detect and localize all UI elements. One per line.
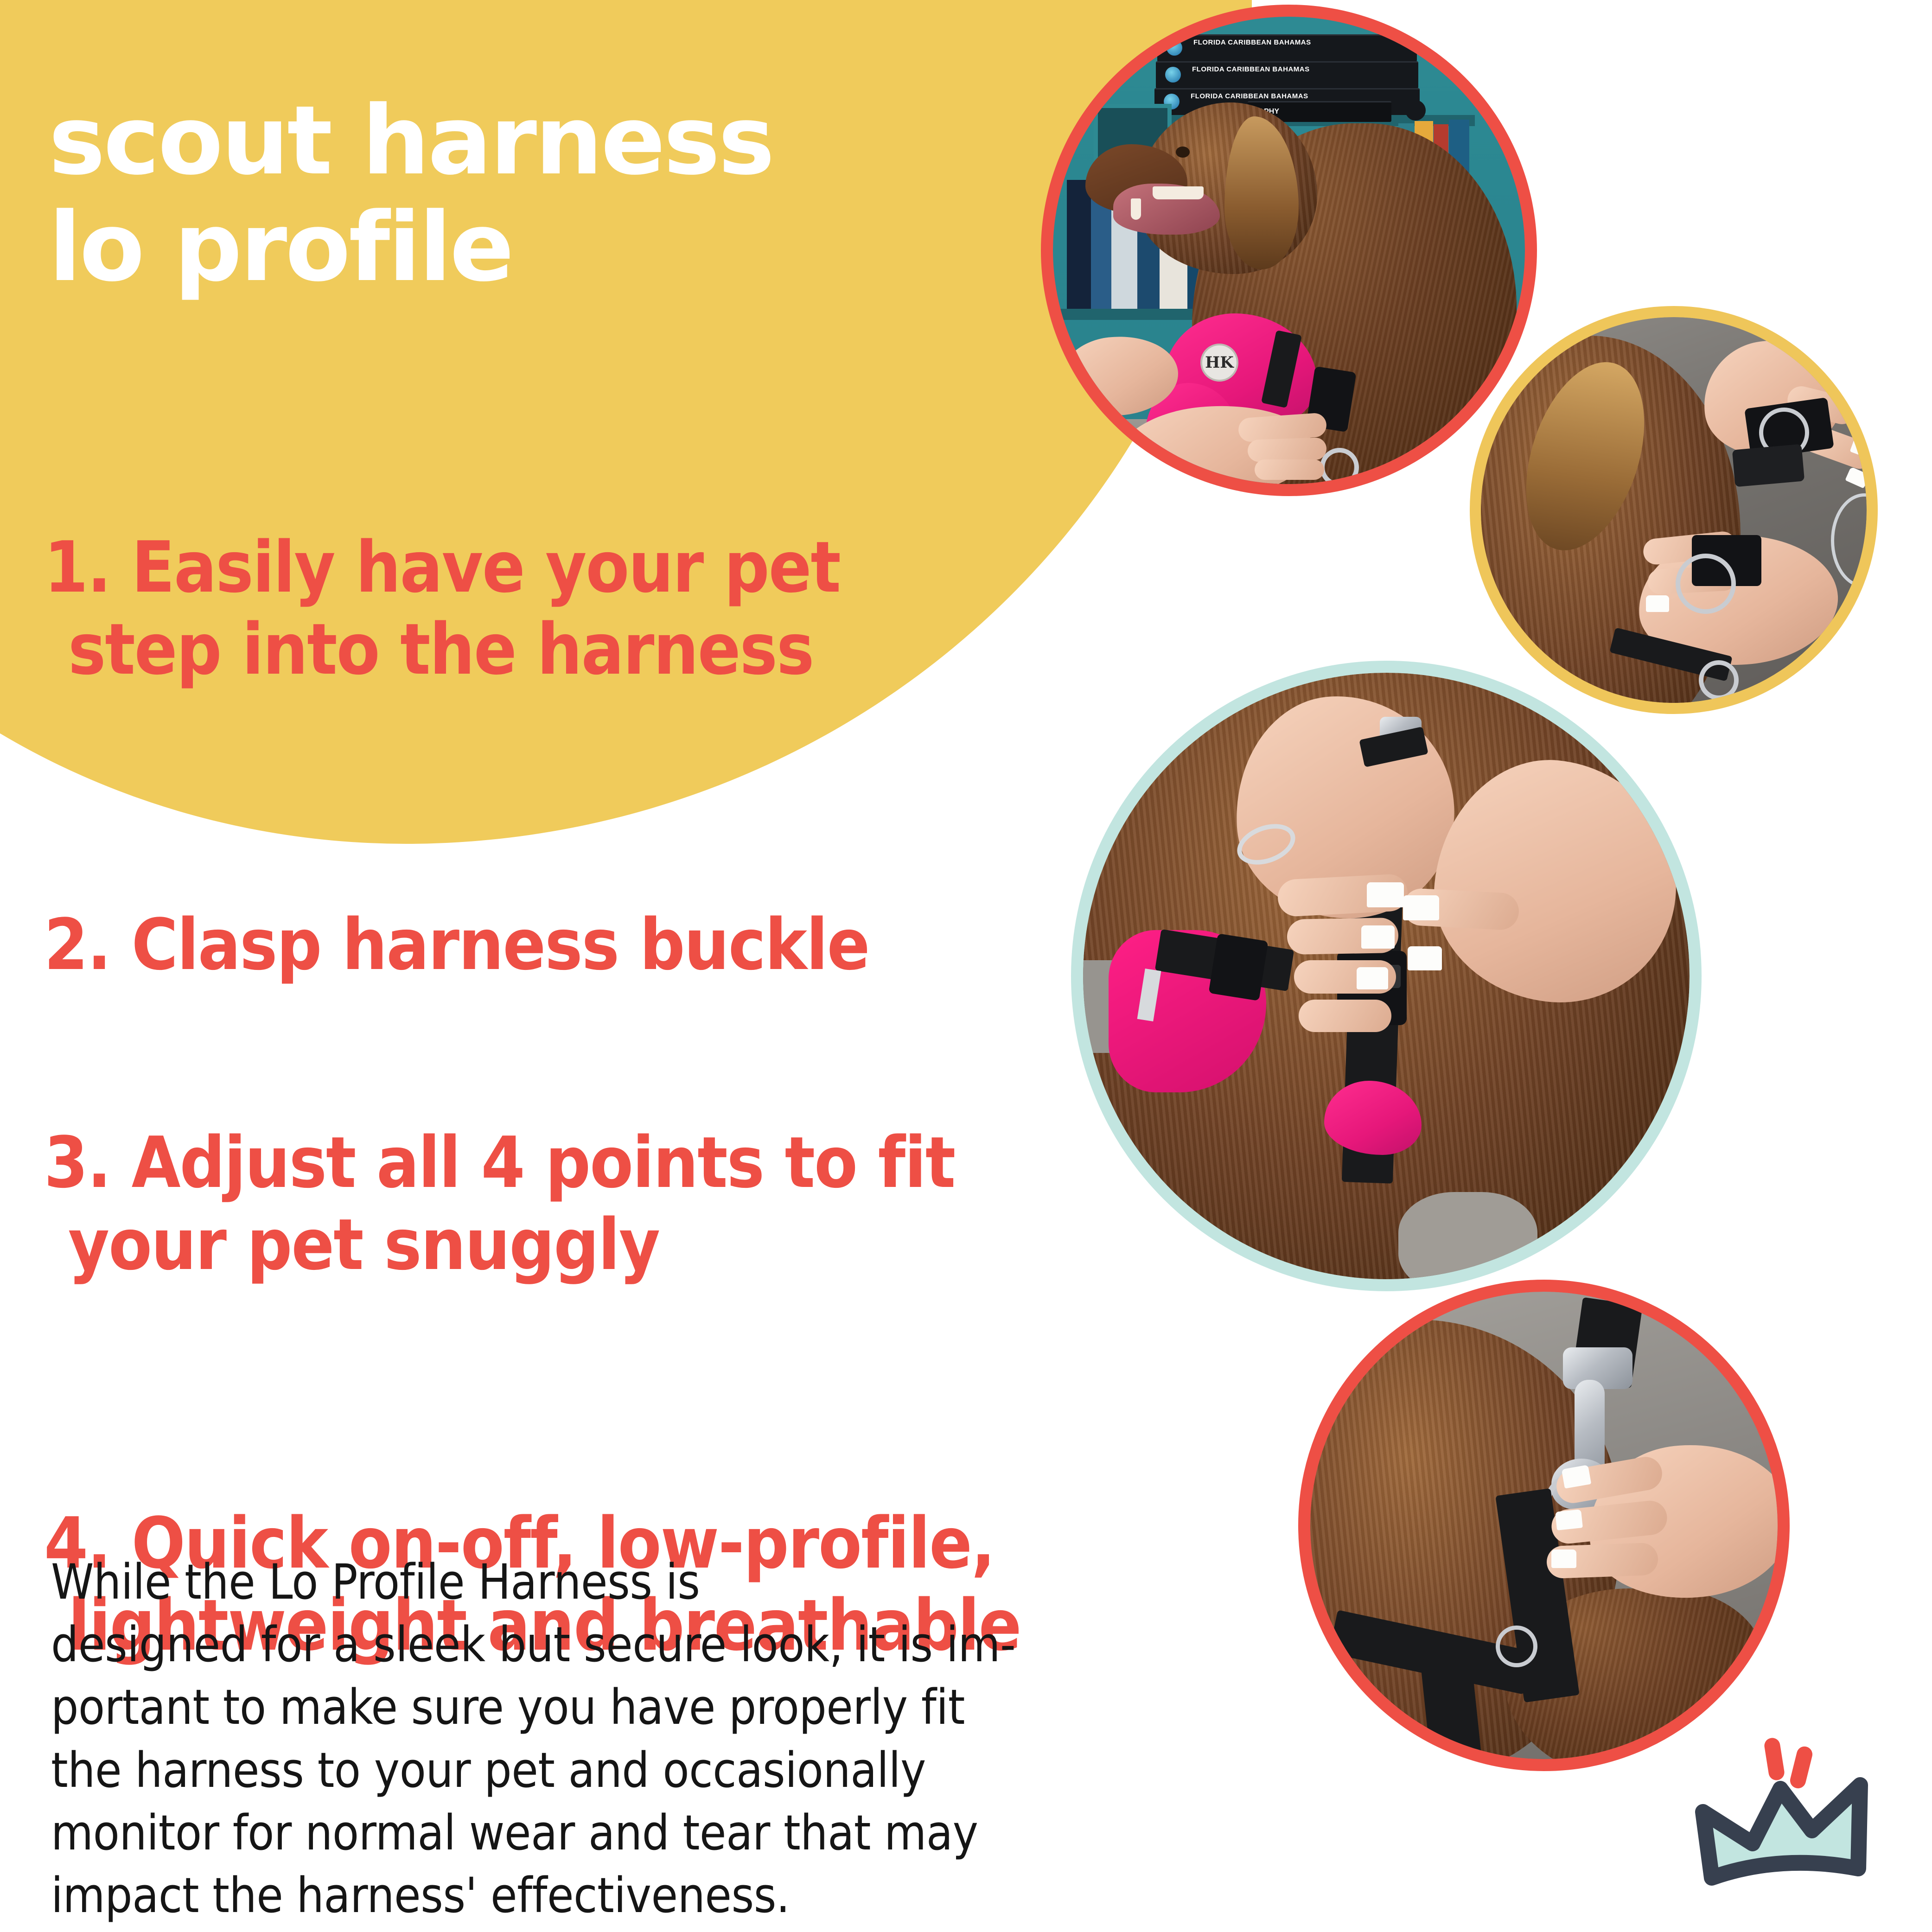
photo-1-image: FLORIDA CARIBBEAN BAHAMAS FLORIDA CARIBB… xyxy=(1053,17,1525,484)
crown-shape-icon xyxy=(1703,1785,1860,1878)
photo-2-image xyxy=(1481,317,1867,703)
book-box-2: FLORIDA CARIBBEAN BAHAMAS xyxy=(1156,61,1418,89)
nail-4b xyxy=(1555,1509,1583,1530)
photo-circle-step-1: FLORIDA CARIBBEAN BAHAMAS FLORIDA CARIBB… xyxy=(1041,5,1537,496)
step-1-line-1: 1. Easily have your pet xyxy=(44,526,840,608)
photo-3-image xyxy=(1083,673,1690,1279)
nail-tip-3 xyxy=(1646,595,1669,612)
buckle-slot xyxy=(1732,444,1804,487)
page-title: scout harness lo profile xyxy=(49,88,999,301)
harness-ring-lower xyxy=(1496,1626,1537,1667)
step-3-line-1: 3. Adjust all 4 points to fit xyxy=(44,1122,955,1204)
nail-b xyxy=(1361,925,1395,949)
step-1-line-2: step into the harness xyxy=(44,609,1101,690)
body-paragraph: While the Lo Profile Harness is designed… xyxy=(51,1551,1071,1927)
strap-ring xyxy=(1699,660,1739,700)
finger-3 xyxy=(1255,459,1324,480)
spark-right-icon xyxy=(1788,1745,1814,1790)
photo-4-image xyxy=(1310,1292,1778,1759)
harness-logo-patch: HK xyxy=(1200,344,1238,382)
photo-circle-step-3 xyxy=(1071,661,1702,1291)
harness-d-ring xyxy=(1320,448,1359,484)
step-2-line-1: 2. Clasp harness buckle xyxy=(44,904,869,986)
photo-circle-step-4 xyxy=(1298,1280,1790,1771)
spark-left-icon xyxy=(1763,1737,1785,1781)
step-item-1: 1. Easily have your pet step into the ha… xyxy=(44,445,1101,772)
cabinet-knob xyxy=(1405,100,1426,121)
finger-2 xyxy=(1247,437,1327,462)
floor-sliver-2 xyxy=(1398,1192,1537,1279)
slider-left xyxy=(1209,933,1269,1001)
step-item-3: 3. Adjust all 4 points to fit your pet s… xyxy=(44,1040,1101,1367)
text-column: scout harness lo profile 1. Easily have … xyxy=(0,0,1113,1932)
nail-4c xyxy=(1551,1549,1576,1568)
nail-c xyxy=(1357,967,1388,989)
crown-logo xyxy=(1688,1734,1882,1901)
nail-a xyxy=(1367,882,1404,907)
step-item-2: 2. Clasp harness buckle xyxy=(44,822,1101,986)
book-spine-l1 xyxy=(1067,180,1091,310)
dog-tooth-canine xyxy=(1131,198,1141,220)
crown-sparks xyxy=(1763,1737,1814,1790)
dog-teeth xyxy=(1153,186,1204,199)
buckle-d-ring-bottom xyxy=(1676,554,1736,614)
dog-eye xyxy=(1176,147,1190,158)
infographic-canvas: scout harness lo profile 1. Easily have … xyxy=(0,0,1932,1932)
photo-circle-step-2 xyxy=(1470,306,1878,714)
book-box-1: FLORIDA CARIBBEAN BAHAMAS xyxy=(1157,34,1417,62)
nail-e xyxy=(1408,946,1442,970)
finger-d xyxy=(1299,1000,1391,1032)
step-3-line-2: your pet snuggly xyxy=(44,1204,1101,1286)
nail-d xyxy=(1403,895,1439,920)
